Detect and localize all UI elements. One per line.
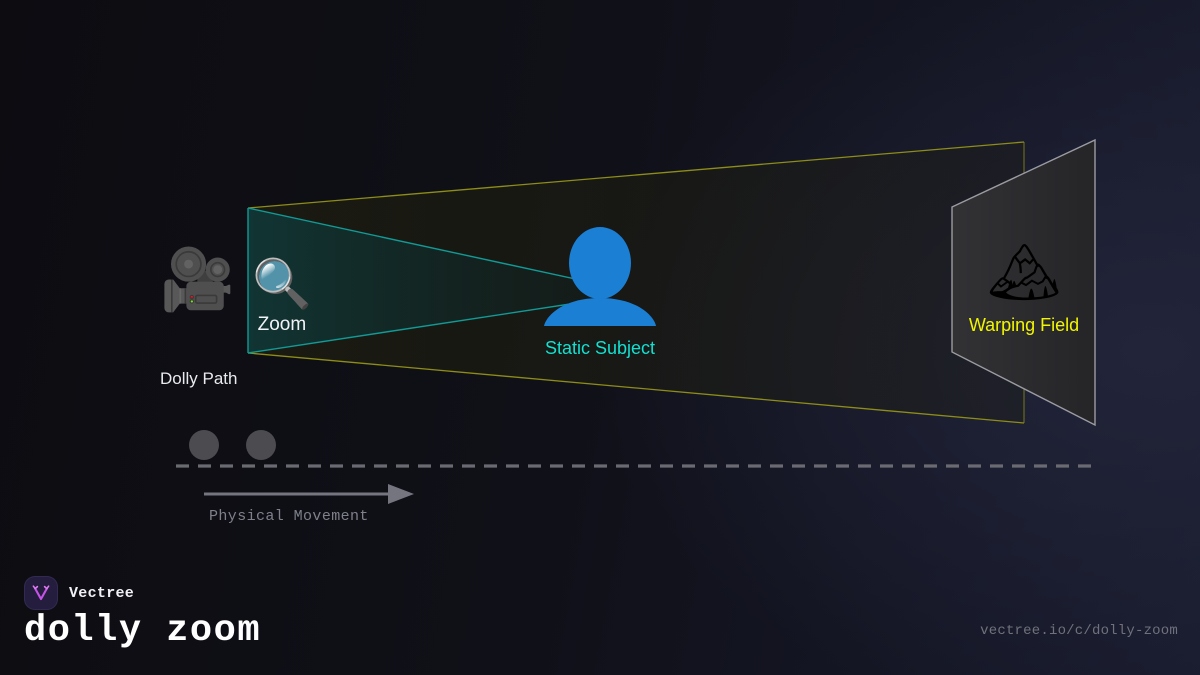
vectree-v-logo-icon bbox=[24, 576, 58, 610]
brand-name: Vectree bbox=[69, 585, 134, 602]
camera-node: 🎥 bbox=[160, 250, 235, 310]
zoom-node: 🔍 Zoom bbox=[252, 260, 312, 336]
physical-movement-arrow bbox=[204, 484, 414, 504]
static-subject-label: Static Subject bbox=[545, 338, 655, 359]
subject-node: Static Subject bbox=[540, 232, 660, 359]
dolly-path-label: Dolly Path bbox=[160, 369, 237, 389]
zoom-label: Zoom bbox=[258, 314, 307, 336]
site-url: vectree.io/c/dolly-zoom bbox=[980, 623, 1178, 639]
warping-field-node: 🏔 Warping Field bbox=[963, 243, 1085, 336]
snowy-mountain-night-icon: 🏔 bbox=[987, 243, 1061, 301]
page-title: dolly zoom bbox=[24, 610, 261, 652]
dolly-wheels bbox=[189, 430, 276, 460]
warping-field-label: Warping Field bbox=[969, 315, 1079, 336]
dolly-zoom-diagram: 🎥 Dolly Path 🔍 Zoom Static Subject 🏔 War… bbox=[0, 0, 1200, 675]
magnifying-glass-icon: 🔍 bbox=[252, 260, 312, 308]
brand-row: Vectree bbox=[24, 576, 134, 610]
movie-camera-icon: 🎥 bbox=[160, 250, 235, 310]
physical-movement-label: Physical Movement bbox=[209, 508, 369, 525]
